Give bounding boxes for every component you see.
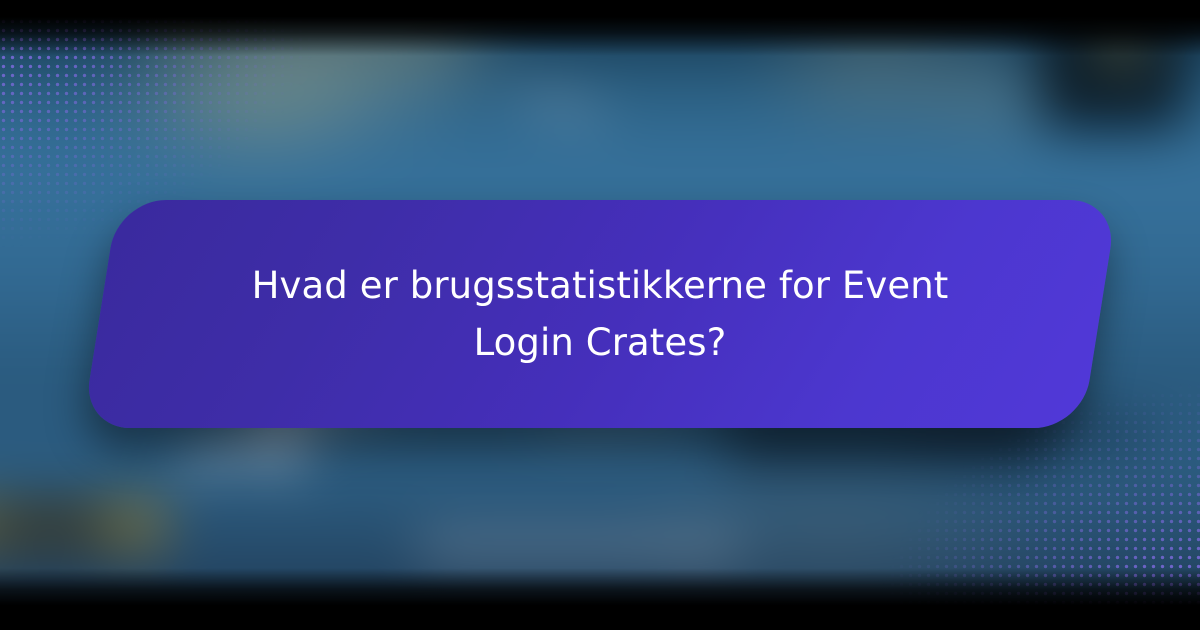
question-text: Hvad er brugsstatistikkerne for Event Lo… xyxy=(196,257,1004,371)
screenshot-canvas: Hvad er brugsstatistikkerne for Event Lo… xyxy=(0,0,1200,630)
question-card: Hvad er brugsstatistikkerne for Event Lo… xyxy=(82,200,1118,428)
hud-light-strip xyxy=(420,539,738,556)
objective-bar xyxy=(139,0,234,4)
minimap-panel xyxy=(1043,0,1183,127)
question-card-inner: Hvad er brugsstatistikkerne for Event Lo… xyxy=(196,257,1004,371)
loadout-bar xyxy=(0,503,168,548)
